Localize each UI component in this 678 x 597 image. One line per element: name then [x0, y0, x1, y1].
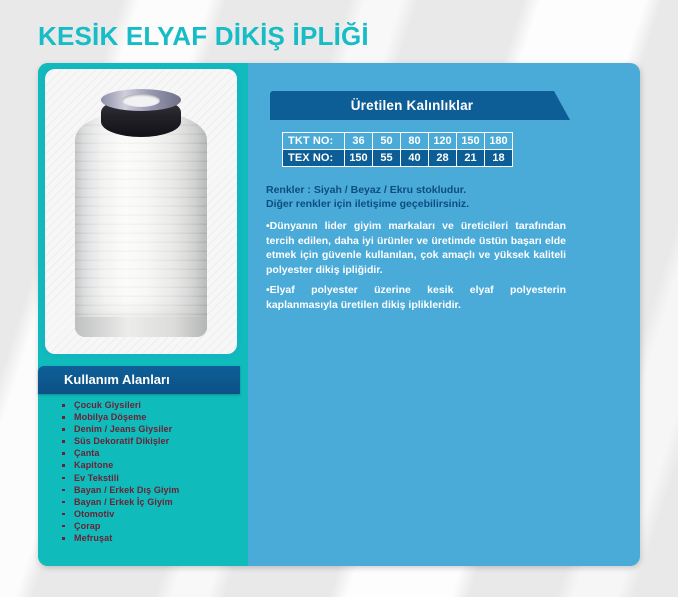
- cone-body: [75, 111, 207, 333]
- list-item: Ev Tekstili: [38, 472, 248, 484]
- usage-areas-list: Çocuk Giysileri Mobilya Döşeme Denim / J…: [38, 399, 248, 544]
- product-image-frame: [41, 65, 241, 358]
- row-label-tkt: TKT NO:: [283, 133, 345, 150]
- description-paragraph-1: •Dünyanın lider giyim markaları ve üreti…: [266, 219, 566, 277]
- usage-areas-header: Kullanım Alanları: [38, 366, 240, 394]
- table-row: TEX NO: 150 55 40 28 21 18: [283, 150, 513, 167]
- thickness-table: TKT NO: 36 50 80 120 150 180 TEX NO: 150…: [282, 132, 513, 167]
- list-item: Çorap: [38, 520, 248, 532]
- cell-tkt-2: 80: [401, 133, 429, 150]
- description-paragraph-2: •Elyaf polyester üzerine kesik elyaf pol…: [266, 283, 566, 312]
- cell-tkt-5: 180: [485, 133, 513, 150]
- cell-tex-2: 40: [401, 150, 429, 167]
- cone-hole: [122, 94, 160, 107]
- list-item: Mobilya Döşeme: [38, 411, 248, 423]
- product-card: Üretilen Kalınlıklar TKT NO: 36 50 80 12…: [38, 63, 640, 566]
- list-item: Denim / Jeans Giysiler: [38, 423, 248, 435]
- cell-tex-1: 55: [373, 150, 401, 167]
- list-item: Kapitone: [38, 459, 248, 471]
- row-label-tex: TEX NO:: [283, 150, 345, 167]
- list-item: Çocuk Giysileri: [38, 399, 248, 411]
- spec-banner: Üretilen Kalınlıklar: [270, 91, 570, 120]
- cell-tex-3: 28: [429, 150, 457, 167]
- spec-content-column: Üretilen Kalınlıklar TKT NO: 36 50 80 12…: [248, 63, 640, 566]
- list-item: Süs Dekoratif Dikişler: [38, 435, 248, 447]
- colors-note-line-2: Diğer renkler için iletişime geçebilirsi…: [266, 197, 616, 211]
- usage-areas-title: Kullanım Alanları: [38, 366, 240, 394]
- cone-base: [75, 317, 207, 337]
- colors-note-line-1: Renkler : Siyah / Beyaz / Ekru stokludur…: [266, 183, 616, 197]
- cell-tkt-0: 36: [345, 133, 373, 150]
- cell-tkt-3: 120: [429, 133, 457, 150]
- list-item: Mefruşat: [38, 532, 248, 544]
- list-item: Çanta: [38, 447, 248, 459]
- cell-tex-5: 18: [485, 150, 513, 167]
- colors-availability-note: Renkler : Siyah / Beyaz / Ekru stokludur…: [266, 183, 616, 211]
- spec-banner-title: Üretilen Kalınlıklar: [270, 91, 554, 120]
- cell-tex-0: 150: [345, 150, 373, 167]
- thread-cone-image: [59, 85, 223, 343]
- table-row: TKT NO: 36 50 80 120 150 180: [283, 133, 513, 150]
- list-item: Bayan / Erkek İç Giyim: [38, 496, 248, 508]
- list-item: Bayan / Erkek Dış Giyim: [38, 484, 248, 496]
- cell-tkt-4: 150: [457, 133, 485, 150]
- list-item: Otomotiv: [38, 508, 248, 520]
- page-title: KESİK ELYAF DİKİŞ İPLİĞİ: [38, 21, 369, 52]
- cell-tkt-1: 50: [373, 133, 401, 150]
- cell-tex-4: 21: [457, 150, 485, 167]
